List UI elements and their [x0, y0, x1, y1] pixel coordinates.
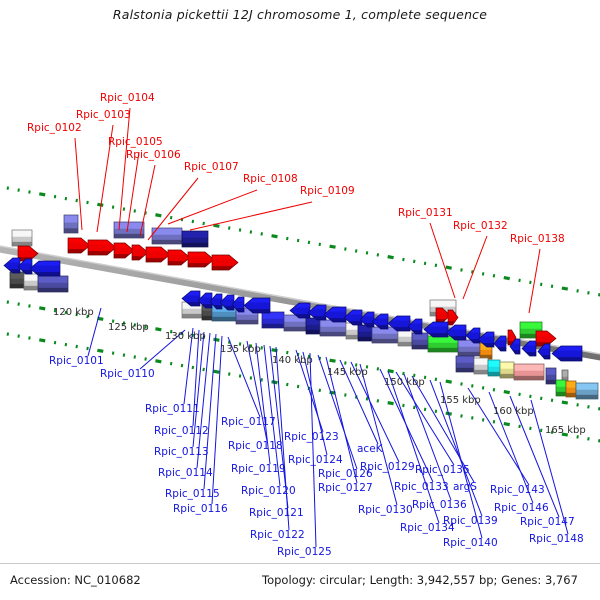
feature-block	[566, 381, 576, 397]
feature-block	[64, 215, 78, 233]
feature-block	[306, 318, 320, 334]
gene-label: Rpic_0132	[453, 220, 508, 232]
gene-label: Rpic_0104	[100, 92, 155, 104]
gene-arrow	[168, 250, 190, 265]
gene-arrow	[68, 238, 90, 253]
gene-label: Rpic_0117	[221, 416, 276, 428]
gene-label: Rpic_0105	[108, 136, 163, 148]
gene-arrow	[146, 247, 170, 262]
gene-label: Rpic_0123	[284, 431, 339, 443]
gene-label: Rpic_0147	[520, 516, 575, 528]
gene-label: Rpic_0129	[360, 461, 415, 473]
leader-line	[463, 236, 487, 299]
feature-block	[372, 327, 398, 343]
scale-label: 155 kbp	[440, 395, 481, 406]
gene-label: Rpic_0120	[241, 485, 296, 497]
gene-label: Rpic_0114	[158, 467, 213, 479]
gene-label: Rpic_0125	[277, 546, 332, 558]
feature-block	[24, 274, 38, 290]
footer-divider	[0, 563, 600, 564]
gene-arrow	[188, 252, 214, 267]
gene-label: Rpic_0138	[510, 233, 565, 245]
leader-line	[127, 152, 139, 232]
gene-label: Rpic_0133	[394, 481, 449, 493]
scale-label: 130 kbp	[165, 331, 206, 342]
feature-block	[38, 276, 68, 292]
scale-label: 135 kbp	[220, 344, 261, 355]
gene-label: Rpic_0112	[154, 425, 209, 437]
gene-label: Rpic_0111	[145, 403, 200, 415]
feature-block	[514, 364, 544, 380]
gene-label: Rpic_0143	[490, 484, 545, 496]
gene-label: Rpic_0127	[318, 482, 373, 494]
gene-label: aceK	[357, 443, 384, 455]
feature-block	[556, 380, 566, 396]
feature-block	[576, 383, 598, 399]
accession-text: Accession: NC_010682	[10, 573, 141, 587]
gene-label: Rpic_0109	[300, 185, 355, 197]
reverse-gene-labels: Rpic_0101Rpic_0110Rpic_0111Rpic_0112Rpic…	[49, 355, 584, 558]
feature-block	[320, 320, 346, 336]
gene-label: Rpic_0107	[184, 161, 239, 173]
gene-arrow	[132, 245, 148, 260]
gene-label: Rpic_0116	[173, 503, 228, 515]
gene-label: Rpic_0135	[415, 464, 470, 476]
gene-label: Rpic_0102	[27, 122, 82, 134]
scale-label: 145 kbp	[327, 367, 368, 378]
feature-block	[474, 358, 488, 374]
scale-label: 125 kbp	[108, 322, 149, 333]
feature-block	[358, 325, 372, 341]
leader-line	[168, 190, 257, 224]
feature-block	[456, 356, 474, 372]
gene-label: Rpic_0118	[228, 440, 283, 452]
gene-label: Rpic_0113	[154, 446, 209, 458]
scale-label: 160 kbp	[493, 406, 534, 417]
gene-label: Rpic_0106	[126, 149, 181, 161]
gene-label: Rpic_0140	[443, 537, 498, 549]
genome-stats-text: Topology: circular; Length: 3,942,557 bp…	[262, 573, 578, 587]
scale-label: 120 kbp	[53, 307, 94, 318]
gene-label: Rpic_0121	[249, 507, 304, 519]
gene-label: Rpic_0119	[231, 463, 286, 475]
gene-arrow	[448, 310, 458, 325]
leader-line	[430, 223, 455, 298]
feature-block	[546, 368, 556, 384]
gene-label: Rpic_0108	[243, 173, 298, 185]
feature-block	[262, 312, 284, 328]
gene-arrow	[88, 240, 116, 255]
gene-label: Rpic_0148	[529, 533, 584, 545]
gene-label: Rpic_0103	[76, 109, 131, 121]
feature-block	[488, 360, 500, 376]
gene-label: Rpic_0130	[358, 504, 413, 516]
scale-label: 150 kbp	[384, 377, 425, 388]
feature-block	[10, 272, 24, 288]
gene-arrow	[114, 243, 134, 258]
gene-arrow	[4, 258, 20, 273]
gene-label: Rpic_0110	[100, 368, 155, 380]
gene-label: Rpic_0131	[398, 207, 453, 219]
gene-arrow	[212, 255, 238, 270]
scale-label: 165 kbp	[545, 425, 586, 436]
feature-block	[412, 333, 428, 349]
gene-label: Rpic_0122	[250, 529, 305, 541]
genome-map-view: Ralstonia pickettii 12J chromosome 1, co…	[0, 0, 600, 600]
feature-block	[114, 222, 144, 238]
scale-label: 140 kbp	[272, 355, 313, 366]
leader-line	[119, 108, 130, 230]
gene-label: Rpic_0146	[494, 502, 549, 514]
feature-block	[12, 230, 32, 246]
feature-block	[182, 231, 208, 247]
feature-block	[152, 228, 182, 244]
forward-gene-labels: Rpic_0102Rpic_0103Rpic_0104Rpic_0105Rpic…	[27, 92, 565, 245]
gene-label: Rpic_0139	[443, 515, 498, 527]
gene-label: Rpic_0115	[165, 488, 220, 500]
leader-line	[140, 165, 155, 236]
gene-label: argS	[453, 481, 477, 493]
feature-block	[500, 362, 514, 378]
gene-label: Rpic_0124	[288, 454, 343, 466]
feature-block	[346, 323, 358, 339]
leader-line	[190, 202, 312, 230]
genome-map-canvas: Rpic_0102Rpic_0103Rpic_0104Rpic_0105Rpic…	[0, 0, 600, 600]
gene-label: Rpic_0101	[49, 355, 104, 367]
feature-block	[398, 330, 412, 346]
gene-label: Rpic_0136	[412, 499, 467, 511]
leader-line	[310, 353, 316, 547]
